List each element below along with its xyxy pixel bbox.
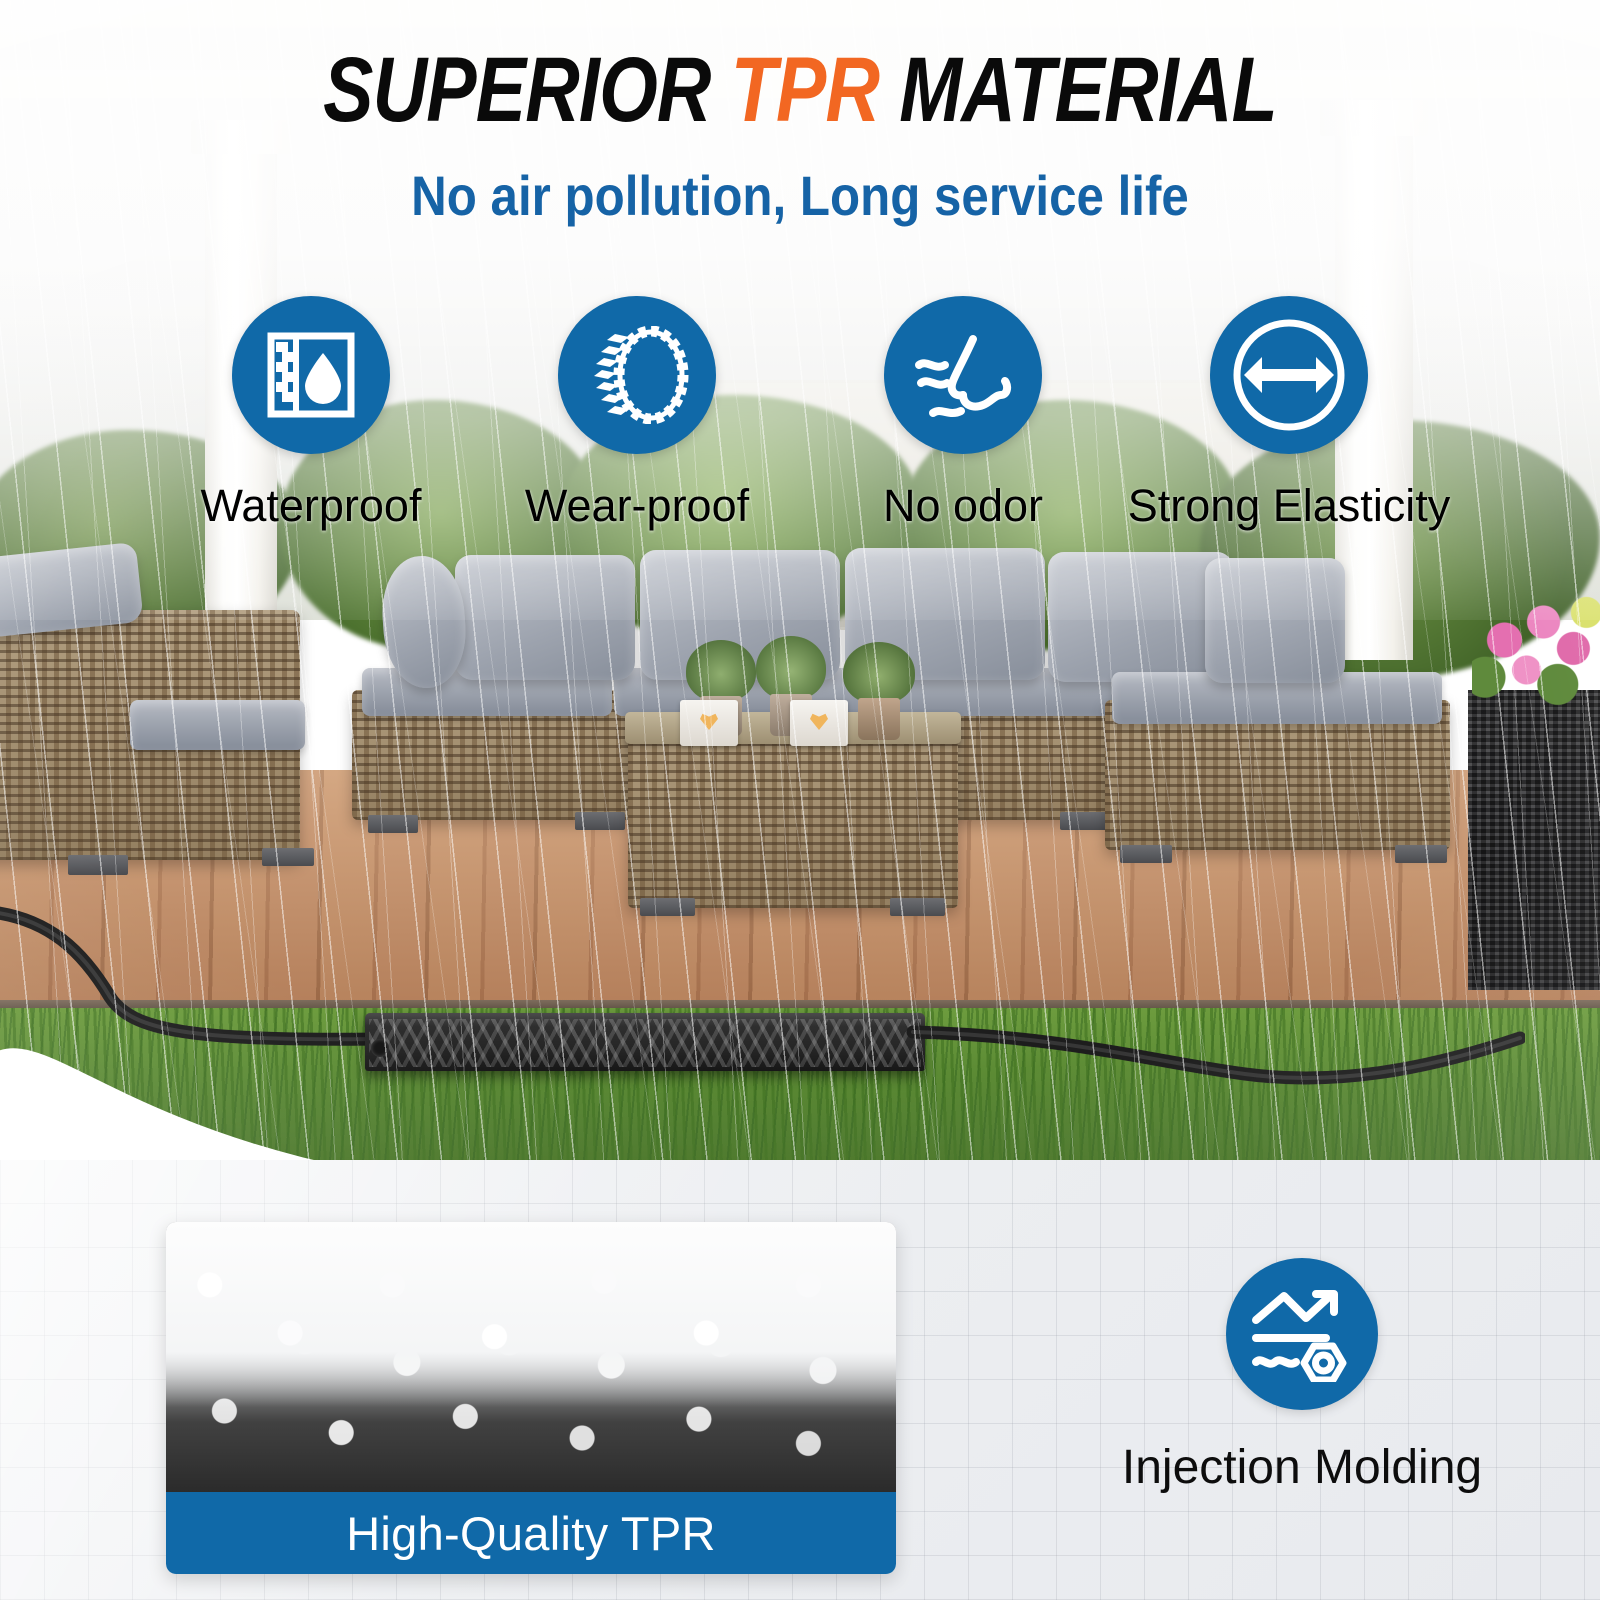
feature-icon-circle (1210, 296, 1368, 454)
feature-row: Waterproof Wear- (0, 296, 1600, 532)
tpr-pellets-highlight (166, 1222, 896, 1407)
tpr-caption-bar: High-Quality TPR (166, 1492, 896, 1574)
sofa-foot-mid (575, 812, 625, 830)
feature-icon-circle (884, 296, 1042, 454)
armchair-foot-left (68, 855, 128, 875)
ramp-end-cap (371, 1039, 389, 1057)
potted-plant-3 (843, 642, 915, 704)
armchair-seat-cushion (130, 700, 305, 750)
feature-label: No odor (883, 480, 1043, 532)
chaise-foot-right (1395, 845, 1447, 863)
sofa-foot-right (1060, 812, 1110, 830)
tpr-caption-text: High-Quality TPR (346, 1506, 716, 1561)
sofa-back-pillow-1 (455, 555, 635, 680)
molding-icon-circle (1226, 1258, 1378, 1410)
page-headline: SUPERIOR TPR MATERIAL (144, 44, 1456, 136)
feature-icon-circle (558, 296, 716, 454)
feature-waterproof[interactable]: Waterproof (148, 296, 474, 532)
coffee-table (628, 718, 958, 908)
horizontal-double-arrow-icon (1226, 312, 1352, 438)
cable-left (0, 905, 390, 1065)
injection-molding-chart-nut-icon (1250, 1286, 1354, 1382)
feature-label: Wear-proof (525, 480, 749, 532)
pink-geranium-flowers (1472, 586, 1600, 706)
chaise-back-pillow (1205, 558, 1345, 683)
tpr-material-card: High-Quality TPR (166, 1222, 896, 1574)
potted-plant-1 (686, 640, 756, 702)
cable-right (905, 1000, 1525, 1160)
molding-label: Injection Molding (1122, 1440, 1482, 1495)
feature-label: Strong Elasticity (1128, 480, 1451, 532)
dark-rattan-planter (1468, 690, 1600, 990)
armchair-foot-right (262, 848, 314, 866)
cable-protector-ramp (365, 1013, 925, 1071)
chaise-foot-left (1120, 845, 1172, 863)
coffee-table-foot-right (890, 898, 945, 916)
feature-wear-proof[interactable]: Wear-proof (474, 296, 800, 532)
nose-smell-lines-icon (911, 329, 1015, 421)
tire-tread-icon (585, 326, 689, 424)
ramp-tread-pattern (369, 1019, 921, 1067)
headline-part-2: MATERIAL (879, 39, 1277, 141)
feature-no-odor[interactable]: No odor (800, 296, 1126, 532)
coffee-table-foot-left (640, 898, 695, 916)
feature-label: Waterproof (201, 480, 422, 532)
sofa-foot-left (368, 815, 418, 833)
tpr-pellets-photo (166, 1222, 896, 1492)
potted-plant-2 (756, 636, 826, 700)
headline-part-1: SUPERIOR (323, 39, 731, 141)
waterproof-fabric-droplet-icon (262, 329, 360, 421)
page-subheadline: No air pollution, Long service life (96, 168, 1504, 224)
injection-molding-feature[interactable]: Injection Molding (1012, 1258, 1592, 1495)
feature-strong-elasticity[interactable]: Strong Elasticity (1126, 296, 1452, 532)
feature-icon-circle (232, 296, 390, 454)
plant-pot-3 (858, 698, 900, 740)
headline-accent-tpr: TPR (731, 39, 879, 141)
product-infographic-page: SUPERIOR TPR MATERIAL No air pollution, … (0, 0, 1600, 1600)
